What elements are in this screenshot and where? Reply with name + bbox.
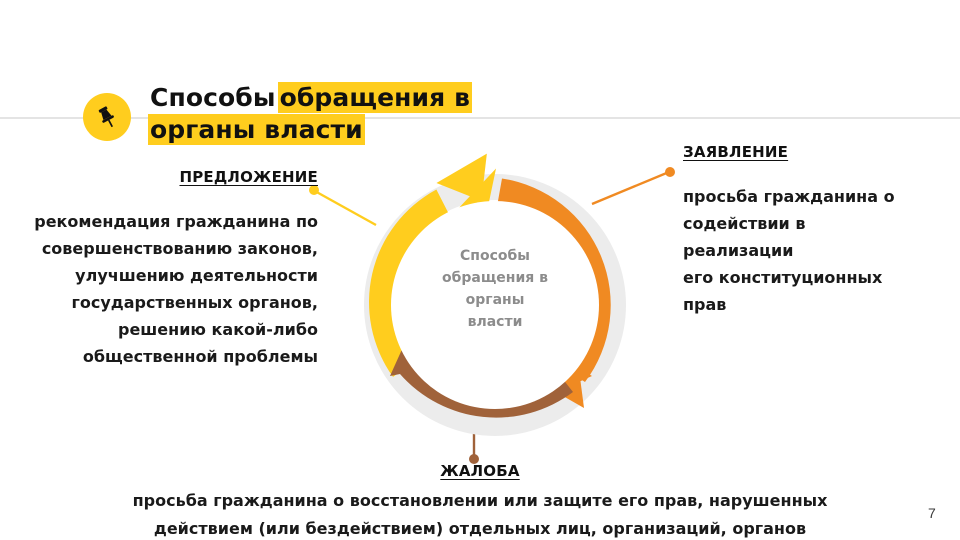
center-line-3: органы <box>426 289 564 311</box>
page-title: Способыобращения в органы власти <box>148 82 568 146</box>
slide-canvas: Способыобращения в органы власти <box>0 0 960 540</box>
title-line-1: Способыобращения в <box>148 82 568 114</box>
center-line-2: обращения в <box>426 267 564 289</box>
center-line-4: власти <box>426 311 564 333</box>
callout-predlozhenie: ПРЕДЛОЖЕНИЕ рекомендация гражданина по с… <box>0 168 318 370</box>
callout-zayavlenie-body-line-2: содействии в <box>683 210 953 237</box>
title-text-plain: Способы <box>148 82 278 113</box>
callout-zayavlenie-body: просьба гражданина о содействии в реализ… <box>683 183 953 318</box>
callout-zayavlenie-body-line-3: реализации <box>683 237 953 264</box>
callout-zhaloba-body-line-2: действием (или бездействием) отдельных л… <box>0 515 960 540</box>
cycle-diagram: Способы обращения в органы власти <box>330 140 660 470</box>
callout-zayavlenie-body-line-5: прав <box>683 291 953 318</box>
callout-zhaloba-body-line-1: просьба гражданина о восстановлении или … <box>0 487 960 515</box>
center-line-1: Способы <box>426 245 564 267</box>
callout-zhaloba-heading: ЖАЛОБА <box>0 462 960 480</box>
callout-zayavlenie: ЗАЯВЛЕНИЕ просьба гражданина о содействи… <box>683 143 953 318</box>
page-number: 7 <box>928 505 936 521</box>
callout-predlozhenie-heading: ПРЕДЛОЖЕНИЕ <box>0 168 318 186</box>
diagram-center-label: Способы обращения в органы власти <box>426 245 564 333</box>
callout-zayavlenie-body-line-4: его конституционных <box>683 264 953 291</box>
pushpin-icon <box>83 93 131 141</box>
connector-dot-zayavlenie <box>665 167 675 177</box>
callout-zayavlenie-body-line-1: просьба гражданина о <box>683 183 953 210</box>
callout-zhaloba-body: просьба гражданина о восстановлении или … <box>0 487 960 540</box>
callout-zayavlenie-heading: ЗАЯВЛЕНИЕ <box>683 143 953 161</box>
callout-zhaloba: ЖАЛОБА просьба гражданина о восстановлен… <box>0 462 960 540</box>
title-text-highlight-1: обращения в <box>278 82 472 113</box>
callout-predlozhenie-body: рекомендация гражданина по совершенствов… <box>0 208 318 370</box>
